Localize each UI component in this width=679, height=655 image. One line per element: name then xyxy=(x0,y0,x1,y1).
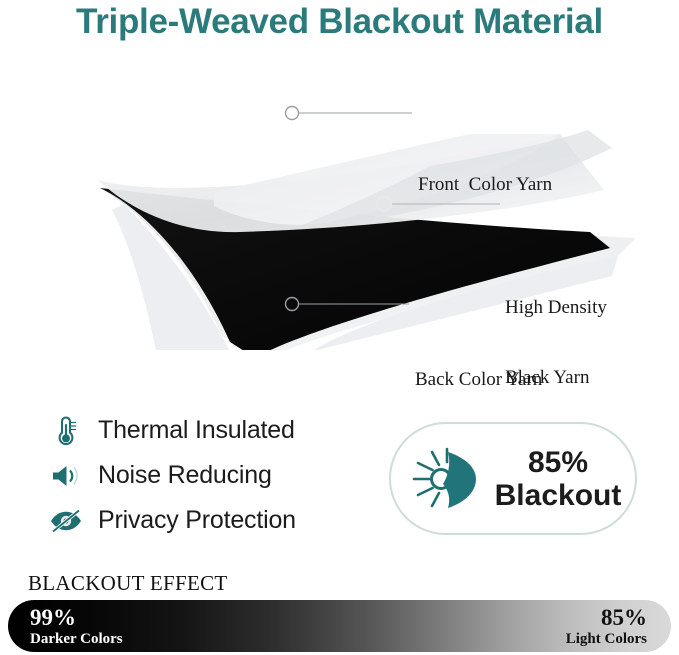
feature-label: Thermal Insulated xyxy=(98,416,295,445)
eye-slash-icon xyxy=(44,502,88,540)
blackout-effect-heading: BLACKOUT EFFECT xyxy=(28,571,228,596)
label-line-1: High Density xyxy=(505,296,607,319)
feature-item-noise-reducing: Noise Reducing xyxy=(44,453,374,498)
feature-label: Noise Reducing xyxy=(98,461,272,490)
badge-text: 85% Blackout xyxy=(491,446,635,512)
page-title: Triple-Weaved Blackout Material xyxy=(0,2,679,42)
callout-front xyxy=(286,107,413,120)
bar-right-percent: 85% xyxy=(566,605,647,631)
product-feature-infographic: Triple-Weaved Blackout Material xyxy=(0,0,679,655)
feature-item-privacy-protection: Privacy Protection xyxy=(44,498,374,543)
bar-right-caption: Light Colors xyxy=(566,631,647,648)
blackout-effect-gradient-bar: 99% Darker Colors 85% Light Colors xyxy=(8,600,671,652)
speaker-icon xyxy=(44,457,88,495)
feature-label: Privacy Protection xyxy=(98,506,296,535)
bar-left-caption: Darker Colors xyxy=(30,631,123,648)
bar-left-percent: 99% xyxy=(30,605,123,631)
badge-percent: 85% xyxy=(491,446,625,479)
callout-dot-icon xyxy=(286,107,299,120)
blackout-badge: 85% Blackout xyxy=(389,422,637,535)
fabric-layer-diagram: Front Color Yarn High Density Black Yarn… xyxy=(0,70,679,350)
sun-blocked-icon xyxy=(399,439,491,519)
label-back-color-yarn: Back Color Yarn xyxy=(415,368,542,391)
bar-left-group: 99% Darker Colors xyxy=(30,605,123,648)
thermometer-icon xyxy=(44,412,88,450)
label-front-color-yarn: Front Color Yarn xyxy=(418,173,552,196)
label-high-density-black-yarn: High Density Black Yarn xyxy=(505,250,607,435)
feature-item-thermal-insulated: Thermal Insulated xyxy=(44,408,374,453)
feature-list: Thermal Insulated Noise Reducing xyxy=(44,408,374,543)
badge-word: Blackout xyxy=(491,479,625,512)
bar-right-group: 85% Light Colors xyxy=(566,605,647,648)
